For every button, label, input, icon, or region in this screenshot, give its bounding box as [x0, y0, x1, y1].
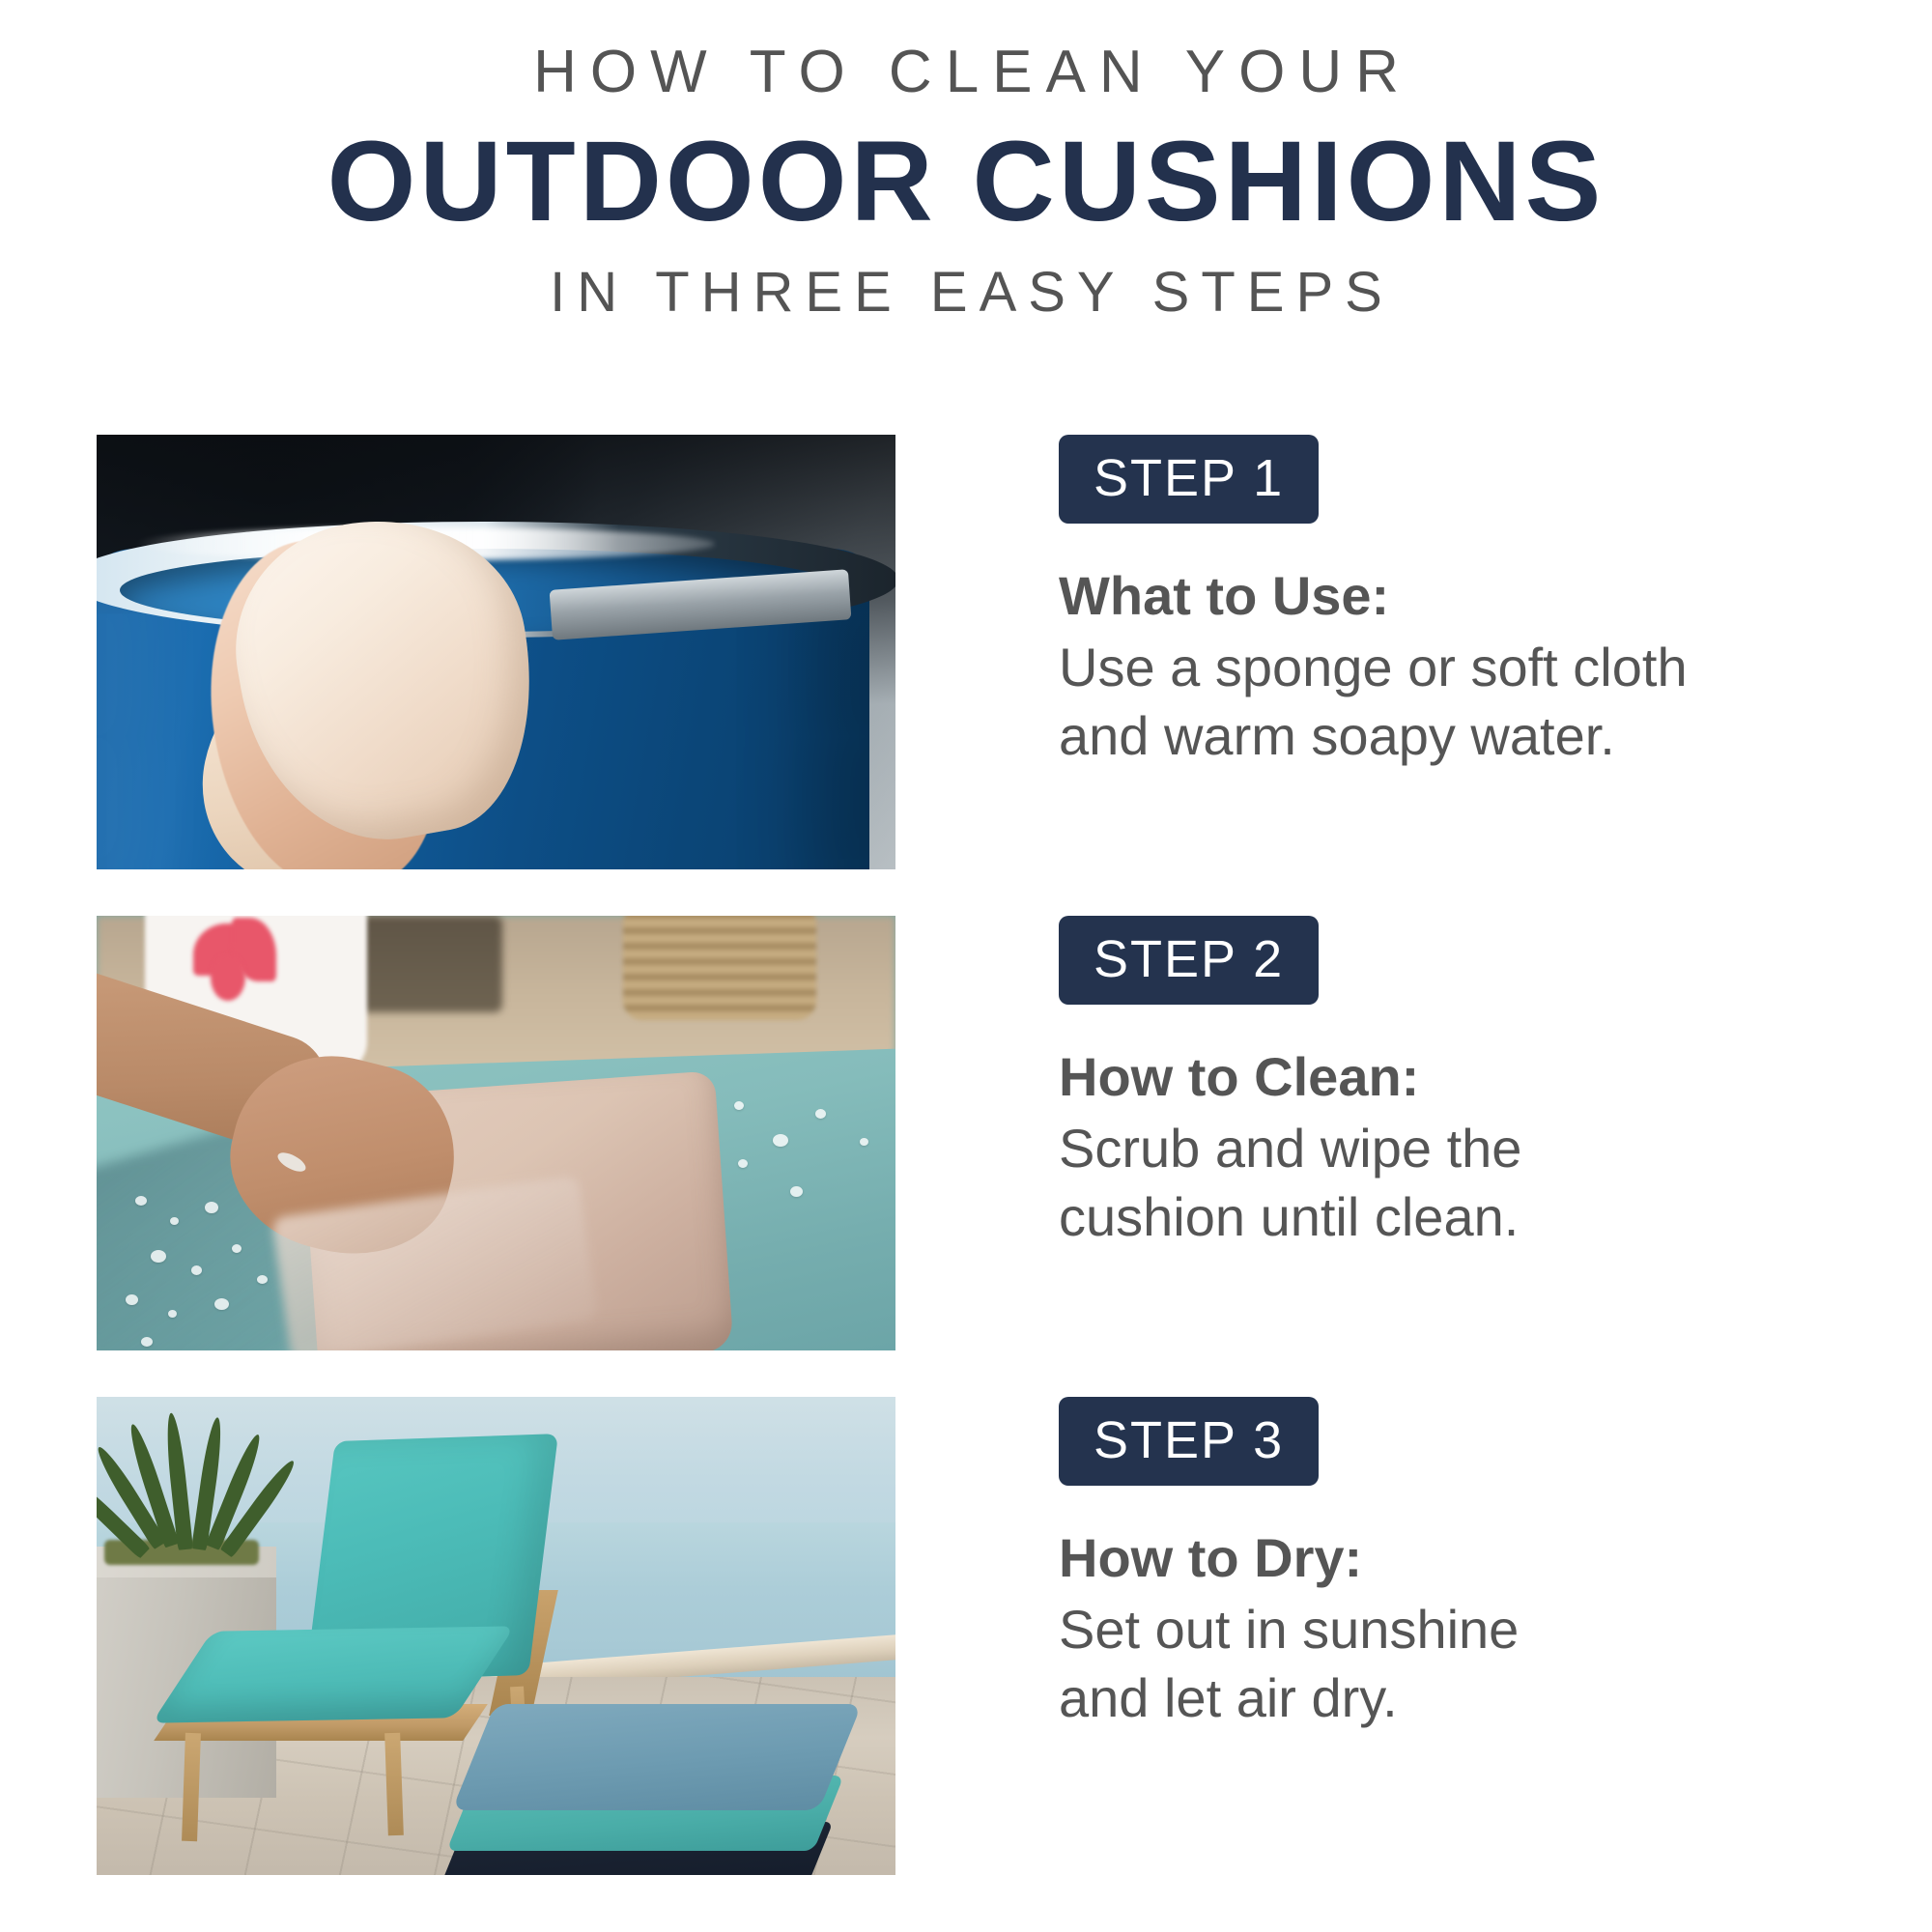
step-3-text: STEP 3 How to Dry: Set out in sunshine a… [895, 1397, 1835, 1733]
water-droplet [191, 1265, 202, 1275]
background-object-dark [357, 916, 502, 1012]
step-row: STEP 3 How to Dry: Set out in sunshine a… [97, 1397, 1835, 1875]
page-title: OUTDOOR CUSHIONS [0, 102, 1932, 240]
step-1-body: Use a sponge or soft cloth and warm soap… [1059, 633, 1835, 771]
water-droplet [257, 1275, 268, 1284]
infographic-header: HOW TO CLEAN YOUR OUTDOOR CUSHIONS IN TH… [0, 0, 1932, 321]
water-droplet [168, 1310, 177, 1318]
step-3-body: Set out in sunshine and let air dry. [1059, 1595, 1835, 1733]
water-droplet [205, 1202, 218, 1213]
chaise-seat-cushion [152, 1626, 515, 1722]
step-2-text: STEP 2 How to Clean: Scrub and wipe the … [895, 916, 1835, 1252]
header-subtitle: IN THREE EASY STEPS [0, 240, 1932, 321]
water-droplet [773, 1134, 788, 1147]
water-droplet [170, 1217, 179, 1225]
water-droplet [738, 1159, 748, 1168]
step-1-heading: What to Use: [1059, 568, 1835, 625]
step-row: STEP 1 What to Use: Use a sponge or soft… [97, 435, 1835, 869]
steps-list: STEP 1 What to Use: Use a sponge or soft… [97, 435, 1835, 1875]
step-3-badge: STEP 3 [1059, 1397, 1319, 1486]
water-droplet [815, 1109, 826, 1119]
water-droplet [214, 1298, 229, 1310]
woven-basket [623, 916, 816, 1020]
step-3-photo [97, 1397, 895, 1875]
water-droplet [860, 1138, 868, 1146]
palm-print-motif [211, 954, 245, 1001]
step-row: STEP 2 How to Clean: Scrub and wipe the … [97, 916, 1835, 1350]
header-eyebrow: HOW TO CLEAN YOUR [0, 43, 1932, 102]
step-3-heading: How to Dry: [1059, 1530, 1835, 1587]
water-droplet [232, 1244, 241, 1253]
water-droplet [151, 1250, 166, 1263]
step-1-text: STEP 1 What to Use: Use a sponge or soft… [895, 435, 1835, 771]
water-droplet [141, 1337, 153, 1347]
step-1-badge: STEP 1 [1059, 435, 1319, 524]
water-droplet [135, 1196, 147, 1206]
step-2-heading: How to Clean: [1059, 1049, 1835, 1106]
step-2-body: Scrub and wipe the cushion until clean. [1059, 1114, 1835, 1252]
water-droplet [126, 1294, 138, 1305]
step-2-badge: STEP 2 [1059, 916, 1319, 1005]
step-2-photo [97, 916, 895, 1350]
stacked-cushion-blue [452, 1704, 862, 1810]
step-1-photo [97, 435, 895, 869]
water-droplet [734, 1101, 744, 1110]
water-droplet [790, 1186, 803, 1197]
